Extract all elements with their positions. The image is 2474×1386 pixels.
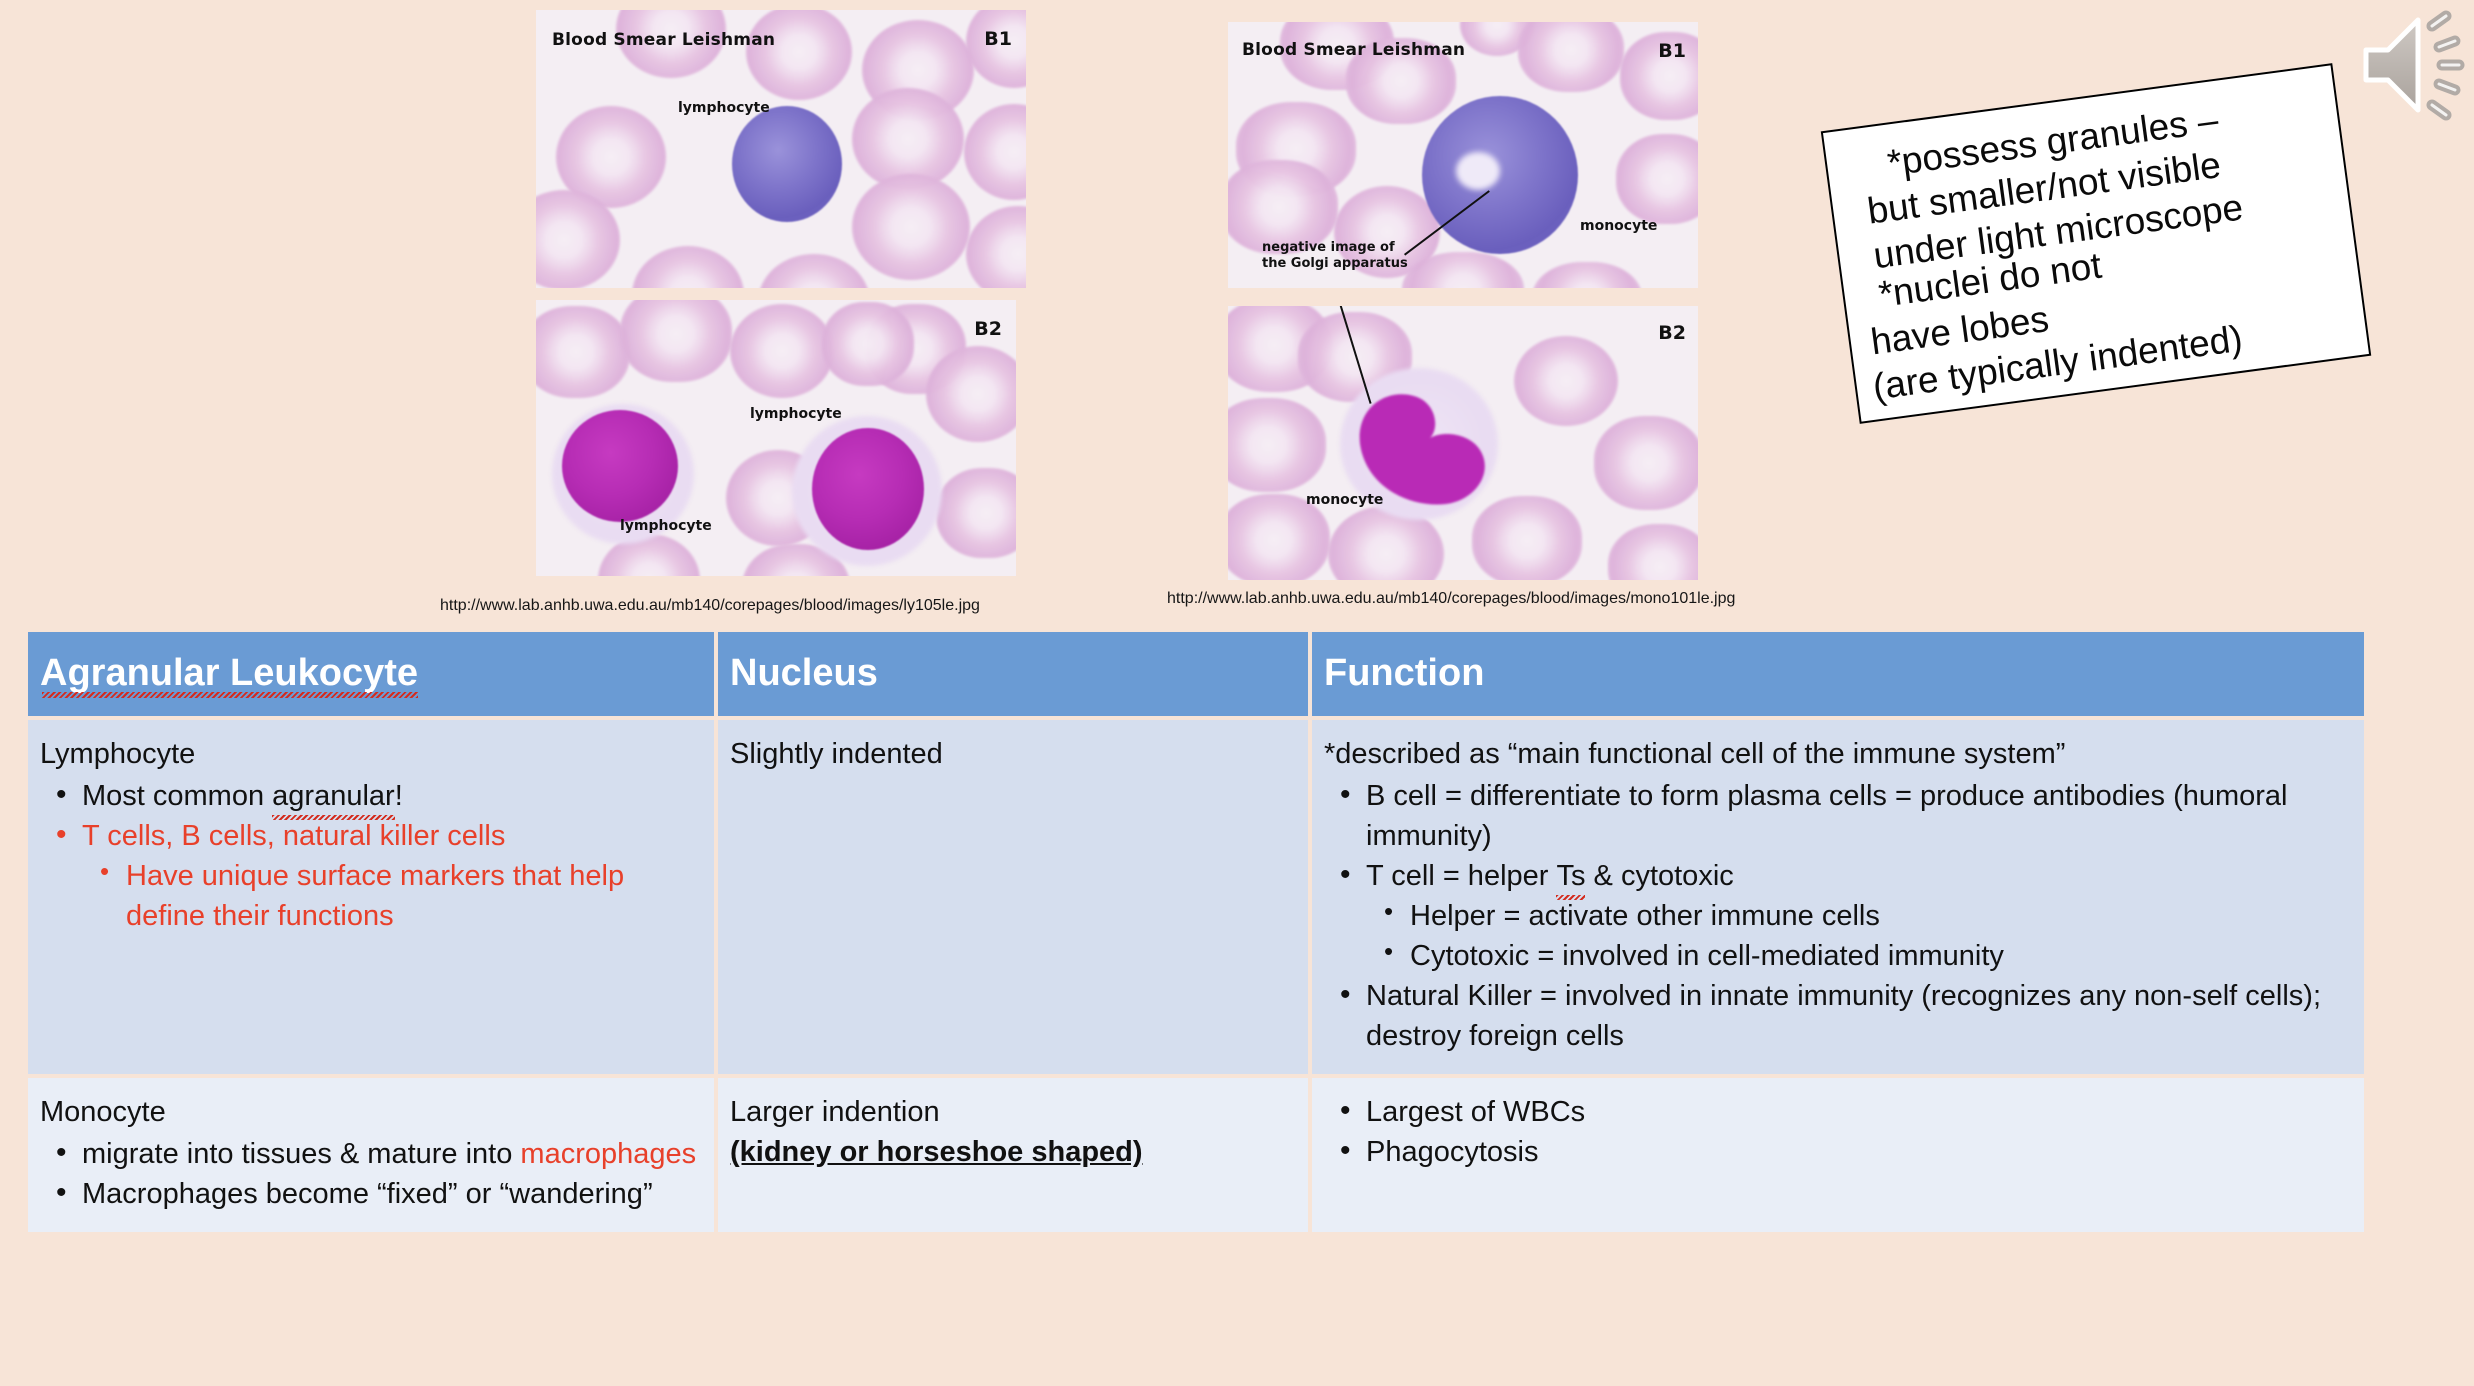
lymphocyte-label: lymphocyte <box>678 100 770 116</box>
bullet-phagocytosis: Phagocytosis <box>1324 1132 2350 1172</box>
monocyte-label: monocyte <box>1306 492 1383 508</box>
monocyte-label: monocyte <box>1580 218 1657 234</box>
column-header-function: Function <box>1312 632 2364 716</box>
column-header-agranular-leukocyte: Agranular Leukocyte <box>28 632 714 716</box>
panel-id-label: B1 <box>984 28 1012 50</box>
bullet-cytotoxic: Cytotoxic = involved in cell-mediated im… <box>1324 936 2350 976</box>
smear-title-label: Blood Smear Leishman <box>1242 40 1465 60</box>
smear-title-label: Blood Smear Leishman <box>552 30 775 50</box>
bullet-natural-killer: Natural Killer = involved in innate immu… <box>1324 976 2350 1056</box>
bullet-migrate-tissues: migrate into tissues & mature into macro… <box>40 1134 700 1174</box>
micrograph-lymphocyte-b1: Blood Smear Leishman B1 lymphocyte <box>536 10 1026 288</box>
lymphocyte-function-header: *described as “main functional cell of t… <box>1324 734 2350 774</box>
cell-lymphocyte-function: *described as “main functional cell of t… <box>1312 720 2364 1074</box>
source-url-monocyte: http://www.lab.anhb.uwa.edu.au/mb140/cor… <box>1167 590 1907 608</box>
table-row-lymphocyte: Lymphocyte Most common agranular! T cell… <box>28 720 2364 1074</box>
bullet-fixed-wandering: Macrophages become “fixed” or “wandering… <box>40 1174 700 1214</box>
cell-lymphocyte-nucleus: Slightly indented <box>718 720 1308 1074</box>
lymphocyte-title: Lymphocyte <box>40 734 700 774</box>
bullet-b-cell: B cell = differentiate to form plasma ce… <box>1324 776 2350 856</box>
cell-lymphocyte-name: Lymphocyte Most common agranular! T cell… <box>28 720 714 1074</box>
cell-monocyte-name: Monocyte migrate into tissues & mature i… <box>28 1078 714 1232</box>
bullet-cell-types: T cells, B cells, natural killer cells <box>40 816 700 856</box>
lymphocyte-label-2: lymphocyte <box>620 518 712 534</box>
panel-id-label: B2 <box>974 318 1002 340</box>
micrograph-monocyte-b1: Blood Smear Leishman B1 monocyte negativ… <box>1228 22 1698 288</box>
bullet-most-common: Most common agranular! <box>40 776 700 816</box>
golgi-apparatus-label: negative image of the Golgi apparatus <box>1262 240 1408 273</box>
speaker-icon[interactable] <box>2336 6 2466 124</box>
micrograph-monocyte-b2: B2 monocyte <box>1228 306 1698 580</box>
bullet-surface-markers: Have unique surface markers that help de… <box>40 856 700 936</box>
lymphocyte-label-1: lymphocyte <box>750 406 842 422</box>
source-url-lymphocyte: http://www.lab.anhb.uwa.edu.au/mb140/cor… <box>440 597 1120 615</box>
monocyte-title: Monocyte <box>40 1092 700 1132</box>
bullet-helper: Helper = activate other immune cells <box>1324 896 2350 936</box>
agranular-leukocyte-table: Agranular Leukocyte Nucleus Function Lym… <box>24 628 2368 1236</box>
cell-monocyte-function: Largest of WBCs Phagocytosis <box>1312 1078 2364 1232</box>
panel-id-label: B2 <box>1658 322 1686 344</box>
panel-id-label: B1 <box>1658 40 1686 62</box>
monocyte-nucleus-line1: Larger indention <box>730 1092 1294 1132</box>
lymphocyte-nucleus-text: Slightly indented <box>730 734 1294 774</box>
bullet-t-cell: T cell = helper Ts & cytotoxic <box>1324 856 2350 896</box>
table-header-row: Agranular Leukocyte Nucleus Function <box>28 632 2364 716</box>
bullet-largest-wbc: Largest of WBCs <box>1324 1092 2350 1132</box>
monocyte-nucleus-line2: (kidney or horseshoe shaped) <box>730 1132 1294 1172</box>
cell-monocyte-nucleus: Larger indention (kidney or horseshoe sh… <box>718 1078 1308 1232</box>
granule-note-callout: *possess granules – but smaller/not visi… <box>1821 63 2371 424</box>
column-header-nucleus: Nucleus <box>718 632 1308 716</box>
monocyte-nucleus <box>1352 386 1498 508</box>
table-row-monocyte: Monocyte migrate into tissues & mature i… <box>28 1078 2364 1232</box>
micrograph-lymphocyte-b2: B2 lymphocyte lymphocyte <box>536 300 1016 576</box>
